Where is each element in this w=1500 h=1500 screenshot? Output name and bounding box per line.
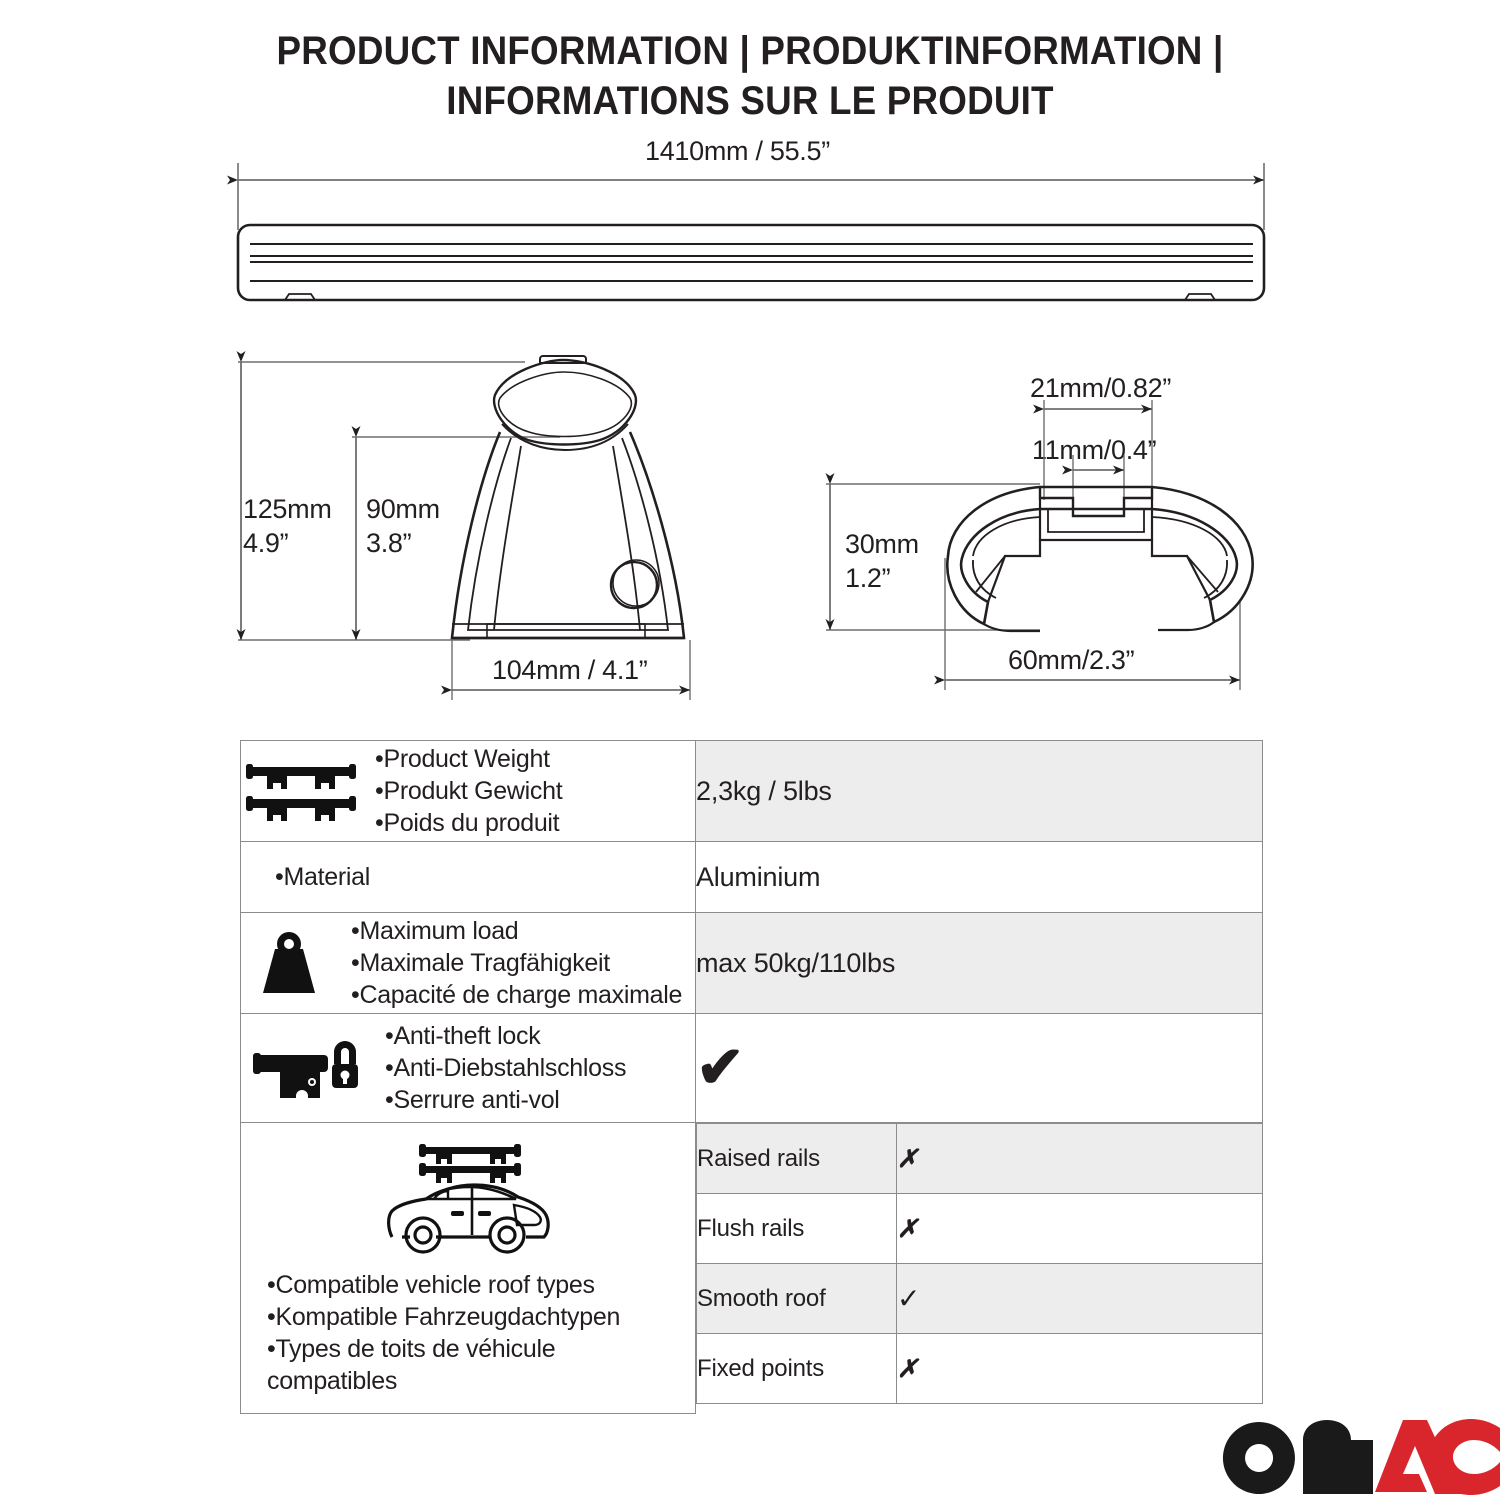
weight-label-text: •Product Weight •Produkt Gewicht •Poids … [375,743,562,839]
max-load-label-text: •Maximum load •Maximale Tragfähigkeit •C… [351,915,682,1011]
label-line: •Serrure anti-vol [385,1084,626,1116]
row-label-compatibility: •Compatible vehicle roof types •Kompatib… [241,1123,696,1414]
dim-height-125-label: 125mm 4.9” [243,492,332,560]
label-line: •Material [275,861,370,893]
product-information-sheet: PRODUCT INFORMATION | PRODUKTINFORMATION… [0,0,1500,1500]
roof-type-name: Smooth roof [697,1264,897,1334]
row-value-max-load: max 50kg/110lbs [696,913,1263,1014]
label-line: •Compatible vehicle roof types [267,1269,687,1301]
row-label-max-load: •Maximum load •Maximale Tragfähigkeit •C… [241,913,696,1014]
roof-type-name: Fixed points [697,1334,897,1404]
specification-table: •Product Weight •Produkt Gewicht •Poids … [240,740,1263,1414]
check-icon: ✓ [897,1283,920,1314]
row-value-material: Aluminium [696,842,1263,913]
dim-bar-width-label: 60mm/2.3” [1008,645,1134,676]
table-row: •Product Weight •Produkt Gewicht •Poids … [241,741,1263,842]
table-row-compatibility: •Compatible vehicle roof types •Kompatib… [241,1123,1263,1414]
dim-bar-height-in: 1.2” [845,561,919,595]
label-line: •Kompatible Fahrzeugdachtypen [267,1301,687,1333]
dim-slot-outer-label: 21mm/0.82” [1030,373,1171,404]
row-value-lock: ✔ [696,1014,1263,1123]
title-line-2: INFORMATIONS SUR LE PRODUIT [60,76,1440,126]
check-icon: ✔ [696,1039,744,1097]
cross-icon: ✗ [897,1145,918,1173]
dim-slot-inner-label: 11mm/0.4” [1032,435,1156,466]
omac-logo-mark [1215,1418,1500,1496]
cross-icon: ✗ [897,1355,918,1383]
car-with-rack-icon [251,1139,687,1259]
label-line: •Poids du produit [375,807,562,839]
roof-type-mark: ✓ [897,1264,1263,1334]
label-line: •Anti-Diebstahlschloss [385,1052,626,1084]
dim-height-90-in: 3.8” [366,526,440,560]
roof-type-mark: ✗ [897,1124,1263,1194]
label-line: •Anti-theft lock [385,1020,626,1052]
label-line: •Produkt Gewicht [375,775,562,807]
row-label-lock: •Anti-theft lock •Anti-Diebstahlschloss … [241,1014,696,1123]
dim-height-90-label: 90mm 3.8” [366,492,440,560]
omac-logo [1215,1418,1500,1496]
dim-bar-height-mm: 30mm [845,527,919,561]
crossbars-icon [241,759,361,823]
roof-type-cell: Raised rails ✗ Flush rails ✗ [696,1123,1263,1414]
overall-length-dimension [238,163,1264,230]
row-label-weight: •Product Weight •Produkt Gewicht •Poids … [241,741,696,842]
label-line: compatibles [267,1365,687,1397]
dim-height-125-in: 4.9” [243,526,332,560]
roof-type-row: Fixed points ✗ [697,1334,1263,1404]
bar-cross-section [947,487,1252,631]
roof-bar-side-view [238,225,1264,300]
dim-bar-height-label: 30mm 1.2” [845,527,919,595]
weight-icon [241,927,337,999]
roof-types-table: Raised rails ✗ Flush rails ✗ [696,1123,1263,1404]
table-row: •Material Aluminium [241,842,1263,913]
roof-type-row: Raised rails ✗ [697,1124,1263,1194]
roof-type-row: Flush rails ✗ [697,1194,1263,1264]
roof-type-mark: ✗ [897,1194,1263,1264]
roof-type-name: Raised rails [697,1124,897,1194]
roof-type-mark: ✗ [897,1334,1263,1404]
foot-front-view [452,356,684,638]
compat-label-text: •Compatible vehicle roof types •Kompatib… [251,1269,687,1397]
lock-label-text: •Anti-theft lock •Anti-Diebstahlschloss … [385,1020,626,1116]
row-label-material: •Material [241,842,696,913]
roof-type-name: Flush rails [697,1194,897,1264]
cross-icon: ✗ [897,1215,918,1243]
table-row: •Maximum load •Maximale Tragfähigkeit •C… [241,913,1263,1014]
lock-icon [241,1031,371,1105]
label-line: •Product Weight [375,743,562,775]
logo-letter-m [1303,1420,1373,1494]
label-line: •Maximale Tragfähigkeit [351,947,682,979]
dim-overall-length-label: 1410mm / 55.5” [645,136,830,167]
dim-height-125-mm: 125mm [243,492,332,526]
roof-type-row: Smooth roof ✓ [697,1264,1263,1334]
label-line: •Maximum load [351,915,682,947]
logo-letter-o [1223,1422,1295,1494]
label-line: •Capacité de charge maximale [351,979,682,1011]
material-label-text: •Material [241,861,370,893]
dim-foot-width-label: 104mm / 4.1” [492,655,647,686]
row-value-weight: 2,3kg / 5lbs [696,741,1263,842]
label-line: •Types de toits de véhicule [267,1333,687,1365]
title-line-1: PRODUCT INFORMATION | PRODUKTINFORMATION… [60,26,1440,76]
page-title: PRODUCT INFORMATION | PRODUKTINFORMATION… [0,26,1500,126]
table-row: •Anti-theft lock •Anti-Diebstahlschloss … [241,1014,1263,1123]
dim-height-90-mm: 90mm [366,492,440,526]
